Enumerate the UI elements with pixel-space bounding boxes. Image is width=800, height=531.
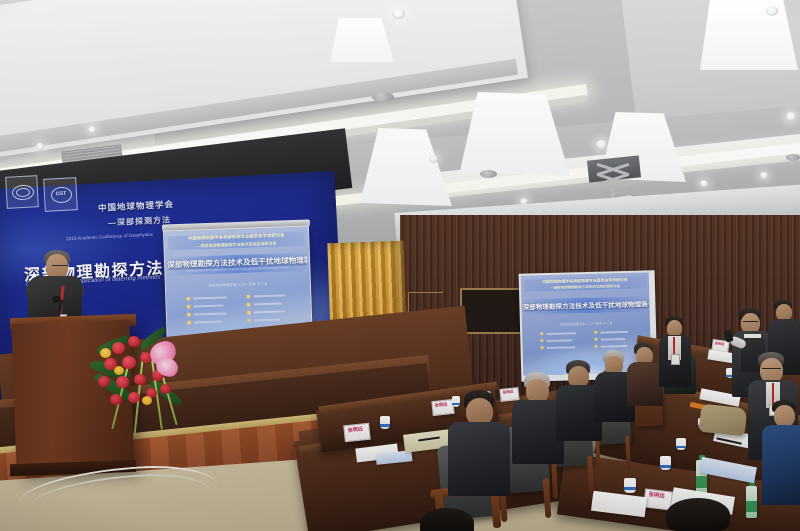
water-bottle bbox=[746, 486, 757, 518]
slide-bullet-line bbox=[600, 331, 628, 334]
floral-arrangement bbox=[94, 330, 186, 438]
slide-bullet-line bbox=[194, 305, 224, 308]
slide-bullet-line bbox=[600, 338, 625, 340]
downlight bbox=[88, 126, 96, 133]
paper-cup bbox=[452, 396, 460, 407]
cgt-logo-label: CGT bbox=[54, 191, 68, 199]
slide-bullet-icon bbox=[594, 331, 597, 334]
slide-footer-cn: 中国地球物理学会 二〇一五年 十一月 bbox=[168, 281, 308, 291]
slide-bullet-icon bbox=[246, 295, 250, 299]
downlight bbox=[36, 143, 44, 150]
cgt-logo-icon: CGT bbox=[43, 177, 78, 212]
name-tent-card: 张明远 bbox=[343, 423, 371, 443]
paper-cup bbox=[660, 456, 671, 470]
shoulder-bag bbox=[699, 404, 748, 437]
downlight bbox=[760, 172, 768, 179]
slide-bullet-icon bbox=[594, 338, 597, 341]
wall-projection-screen: 中国地球物理学会深部探测专业委员会学术研讨会 —深部地球物理勘探方法技术及其应用… bbox=[521, 272, 652, 375]
slide-bullet-icon bbox=[540, 332, 543, 335]
paper-cup bbox=[624, 478, 636, 493]
wall-av-panel bbox=[460, 288, 522, 334]
paper-cup bbox=[676, 438, 686, 450]
name-tent-label: 张明远 bbox=[648, 493, 665, 500]
ceiling-light-panel bbox=[700, 0, 798, 70]
name-tent-label: 张明远 bbox=[435, 403, 448, 408]
slide-bullet-line bbox=[193, 296, 227, 299]
slide-bullet-line bbox=[546, 332, 576, 335]
slide-bullet-line bbox=[546, 339, 572, 341]
ceiling-detector-icon bbox=[786, 154, 800, 161]
paper-cup bbox=[380, 416, 390, 429]
name-tent-label: 张明远 bbox=[503, 391, 514, 396]
name-tent-label: 张明远 bbox=[348, 427, 363, 434]
slide-bullet-icon bbox=[186, 297, 190, 301]
downlight bbox=[766, 6, 778, 16]
conference-hall-photo: CGT 中国地球物理学会 —深部探测方法 2015 Academic Confe… bbox=[0, 0, 800, 531]
name-tent-label: 张明远 bbox=[715, 342, 725, 347]
name-tent-card: 张明远 bbox=[499, 387, 519, 402]
downlight bbox=[596, 140, 607, 149]
ceiling-detector-icon bbox=[480, 170, 497, 178]
slide-bullet-icon bbox=[247, 303, 251, 307]
slide-bullet-line bbox=[253, 294, 285, 297]
slide-bullet-icon bbox=[187, 305, 191, 309]
slide-bullet-line bbox=[254, 302, 282, 305]
speaker-glasses-icon bbox=[52, 265, 68, 270]
downlight bbox=[700, 180, 708, 187]
podium-microphone bbox=[52, 296, 61, 303]
slide-bullet-icon bbox=[540, 339, 543, 342]
slide-footer-cn: 中国地球物理学会 二〇一五年 十一月 bbox=[523, 319, 649, 327]
downlight bbox=[786, 112, 796, 121]
eye-logo-icon bbox=[5, 175, 39, 209]
downlight bbox=[392, 8, 405, 19]
ceiling-speaker-icon bbox=[372, 92, 394, 102]
downlight bbox=[429, 155, 438, 163]
